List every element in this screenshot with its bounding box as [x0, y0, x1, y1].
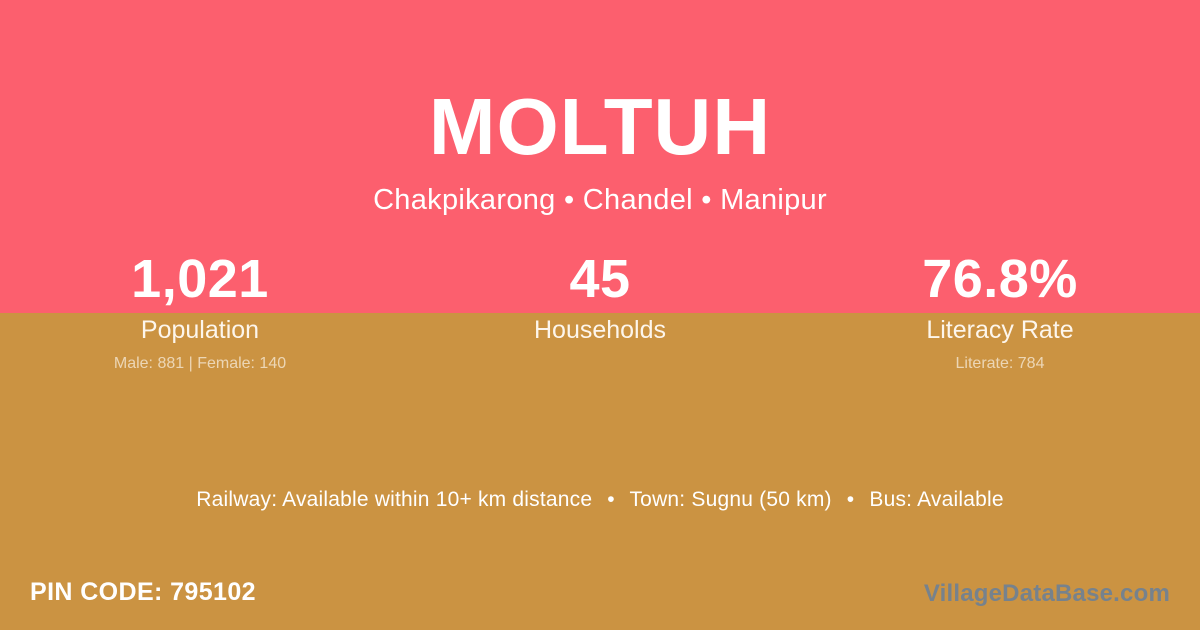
stat-value: 45	[400, 246, 800, 312]
card-content: MOLTUH Chakpikarong • Chandel • Manipur …	[0, 0, 1200, 630]
stat-value: 76.8%	[800, 246, 1200, 312]
stat-population: 1,021 Population Male: 881 | Female: 140	[0, 246, 400, 376]
stat-label: Population	[0, 313, 400, 347]
amenity-bus: Bus: Available	[869, 488, 1003, 511]
stat-sub: Literate: 784	[800, 352, 1200, 376]
page-title: MOLTUH	[0, 82, 1200, 172]
amenity-railway: Railway: Available within 10+ km distanc…	[196, 488, 592, 511]
stat-value: 1,021	[0, 246, 400, 312]
amenity-town: Town: Sugnu (50 km)	[629, 488, 831, 511]
amenities-line: Railway: Available within 10+ km distanc…	[0, 485, 1200, 515]
bullet-separator-icon: •	[838, 485, 864, 515]
bullet-separator-icon: •	[598, 485, 624, 515]
village-info-card: MOLTUH Chakpikarong • Chandel • Manipur …	[0, 0, 1200, 630]
stat-households: 45 Households	[400, 246, 800, 376]
stat-label: Literacy Rate	[800, 313, 1200, 347]
stat-sub: Male: 881 | Female: 140	[0, 352, 400, 376]
stat-sub	[400, 352, 800, 376]
stats-row: 1,021 Population Male: 881 | Female: 140…	[0, 246, 1200, 376]
stat-literacy-rate: 76.8% Literacy Rate Literate: 784	[800, 246, 1200, 376]
pin-code: PIN CODE: 795102	[30, 575, 256, 609]
breadcrumb: Chakpikarong • Chandel • Manipur	[0, 181, 1200, 219]
brand-logo: VillageDataBase.com	[924, 578, 1170, 610]
stat-label: Households	[400, 313, 800, 347]
